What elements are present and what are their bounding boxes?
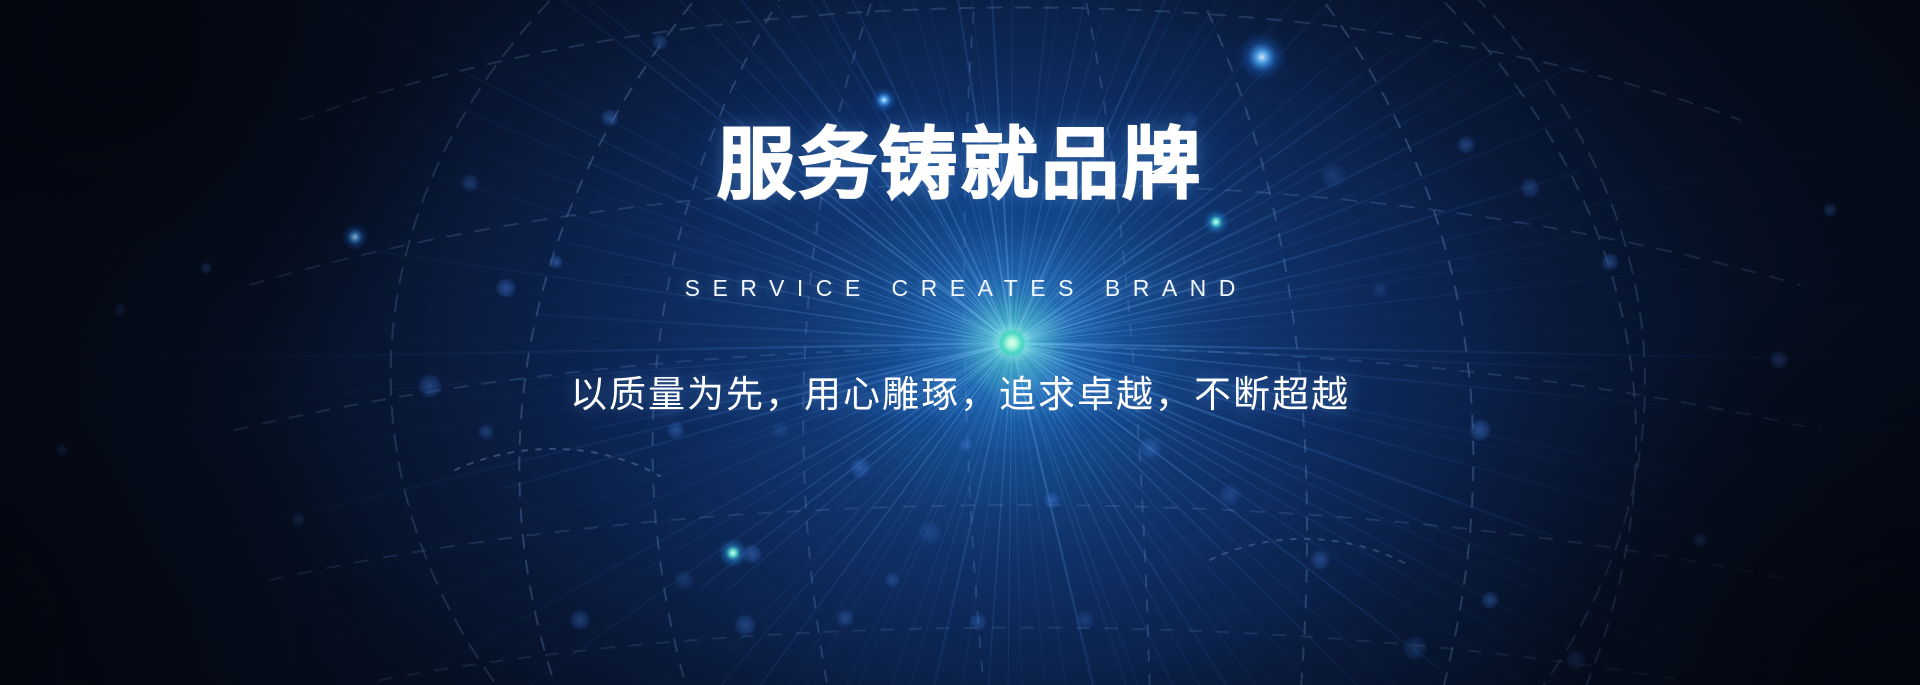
banner-content: 服务铸就品牌 SERVICE CREATES BRAND 以质量为先，用心雕琢，… <box>0 0 1920 685</box>
hero-banner: 服务铸就品牌 SERVICE CREATES BRAND 以质量为先，用心雕琢，… <box>0 0 1920 685</box>
banner-tagline-chinese: 以质量为先，用心雕琢，追求卓越，不断超越 <box>570 364 1350 418</box>
banner-subtitle-english: SERVICE CREATES BRAND <box>672 275 1248 302</box>
banner-headline: 服务铸就品牌 <box>717 124 1203 207</box>
